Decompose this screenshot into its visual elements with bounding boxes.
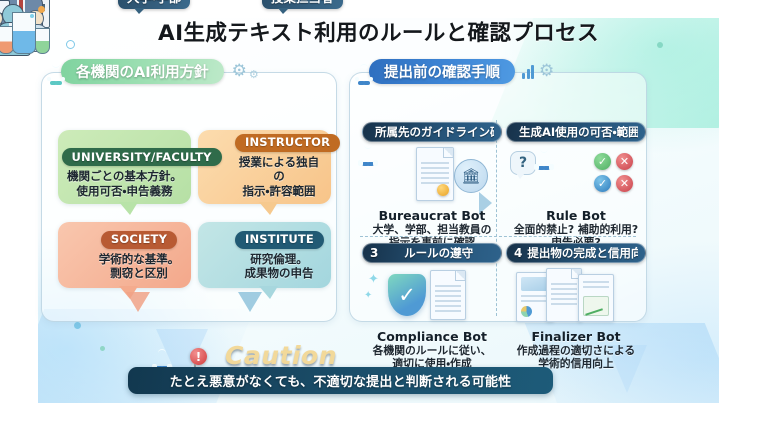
left-panel-title: 各機関のAI利用方針 [61,59,224,84]
card-desc-university-2: 使用可否・申告義務 [62,184,188,198]
flask-icon [0,4,52,56]
gear-icon-right: ⚙ [539,63,554,80]
shield-check-icon: ✓ [388,274,426,316]
card-desc-university-1: 機関ごとの基本方針。 [62,169,188,183]
step-1-title: 所属先のガイドライン確認 [375,124,494,140]
decor-dot-1 [74,322,81,329]
report-document-center-icon [546,268,582,322]
question-bubble-icon: ? [510,151,536,175]
step-4: 4 提出物の完成と信用向上 Finalizer Bot 作成過程 [506,243,646,370]
step-2-art: ? ✓ ✕ ✓ ✕ [506,145,646,207]
step-3-desc-1: 各機関のルールに従い、 [362,344,502,357]
step-2-desc-1: 全面的禁止? 補助的利用? [506,223,646,236]
step-3-art: ✦ ✦ ✓ [362,266,502,328]
card-university: UNIVERSITY/FACULTY 機関ごとの基本方針。 使用可否・申告義務 [58,130,191,204]
step-3-bot-name: Compliance Bot [362,329,502,344]
caution-bar: たとえ悪意がなくても、不適切な提出と判断される可能性 [128,367,553,394]
step-4-number: 4 [514,246,522,260]
card-tag-instructor: 授業担当者 [262,0,343,9]
step-2-header: 生成AI使用の可否・範囲確認 [506,122,646,142]
sparkle-icon-2: ✦ [364,290,372,301]
card-desc-instructor-2: 指示・許容範囲 [235,184,323,198]
flow-arrow-down-left [126,292,150,312]
right-panel-header: 提出前の確認手順 ⚙ [364,59,554,84]
caution-heading: Caution [225,341,337,370]
step-2-bot-name: Rule Bot [506,208,646,223]
gear-icon: ⚙⚙ [232,63,259,80]
right-panel-title: 提出前の確認手順 [369,59,515,84]
card-tag-university: 大学・学部 [118,0,190,9]
policy-document-icon [416,147,454,201]
step-2: 生成AI使用の可否・範囲確認 ? ✓ ✕ ✓ ✕ Rule Bot 全面的禁止?… [506,122,646,249]
step-4-bot-name: Finalizer Bot [506,329,646,344]
page-title: AI生成テキスト利用のルールと確認プロセス [0,16,757,47]
caution-text: たとえ悪意がなくても、不適切な提出と判断される可能性 [170,371,512,390]
step-1-bot-name: Bureaucrat Bot [362,208,502,223]
card-label-university: UNIVERSITY/FACULTY [62,148,222,166]
card-desc-institute-2: 成果物の申告 [235,266,323,280]
card-desc-institute-1: 研究倫理。 [235,252,323,266]
exclamation-icon: ! [190,348,207,365]
step-4-header: 4 提出物の完成と信用向上 [506,243,646,263]
step-3-header: 3 ルールの遵守 [362,243,502,263]
step-4-art [506,266,646,328]
report-document-right-icon [578,274,614,322]
infographic-canvas: AI生成テキスト利用のルールと確認プロセス 各機関のAI利用方針 ⚙⚙ 大学・学… [0,0,757,439]
card-society: SOCIETY 学術的な基準。 剽窃と区別 [58,222,191,288]
card-desc-instructor-1: 授業による独自の [235,155,323,184]
step-1: 所属先のガイドライン確認 🏛 Bureaucrat Bo [362,122,502,249]
decor-dot-2 [100,346,105,351]
card-label-instructor: INSTRUCTOR [235,134,340,152]
check-badge-icon-2: ✓ [594,175,611,192]
step-4-desc-1: 作成過程の適切さによる [506,344,646,357]
institution-seal-icon: 🏛 [454,159,488,193]
card-institute: INSTITUTE 研究倫理。 成果物の申告 [198,222,331,288]
step-3-number: 3 [370,246,378,260]
bar-chart-icon [522,64,534,79]
step-1-art: 🏛 [362,145,502,207]
step-1-header: 所属先のガイドライン確認 [362,122,502,142]
card-desc-society-2: 剽窃と区別 [95,266,183,280]
sparkle-icon: ✦ [368,272,379,287]
flow-arrow-down-right [238,292,262,312]
card-instructor: INSTRUCTOR 授業による独自の 指示・許容範囲 [198,130,331,204]
check-badge-icon-1: ✓ [594,153,611,170]
card-label-institute: INSTITUTE [235,231,324,249]
card-desc-society-1: 学術的な基準。 [95,252,183,266]
step-2-title: 生成AI使用の可否・範囲確認 [519,124,638,140]
step-1-desc-1: 大学、学部、担当教員の [362,223,502,236]
left-panel-header: 各機関のAI利用方針 ⚙⚙ [56,59,259,84]
step-4-title: 提出物の完成と信用向上 [527,245,638,261]
step-3: 3 ルールの遵守 ✦ ✦ ✓ Compliance Bot 各機関のルールに従い… [362,243,502,370]
cross-badge-icon-1: ✕ [616,153,633,170]
compliance-document-icon [430,270,466,320]
card-label-society: SOCIETY [101,231,177,249]
step-3-title: ルールの遵守 [383,245,494,261]
cross-badge-icon-2: ✕ [616,175,633,192]
